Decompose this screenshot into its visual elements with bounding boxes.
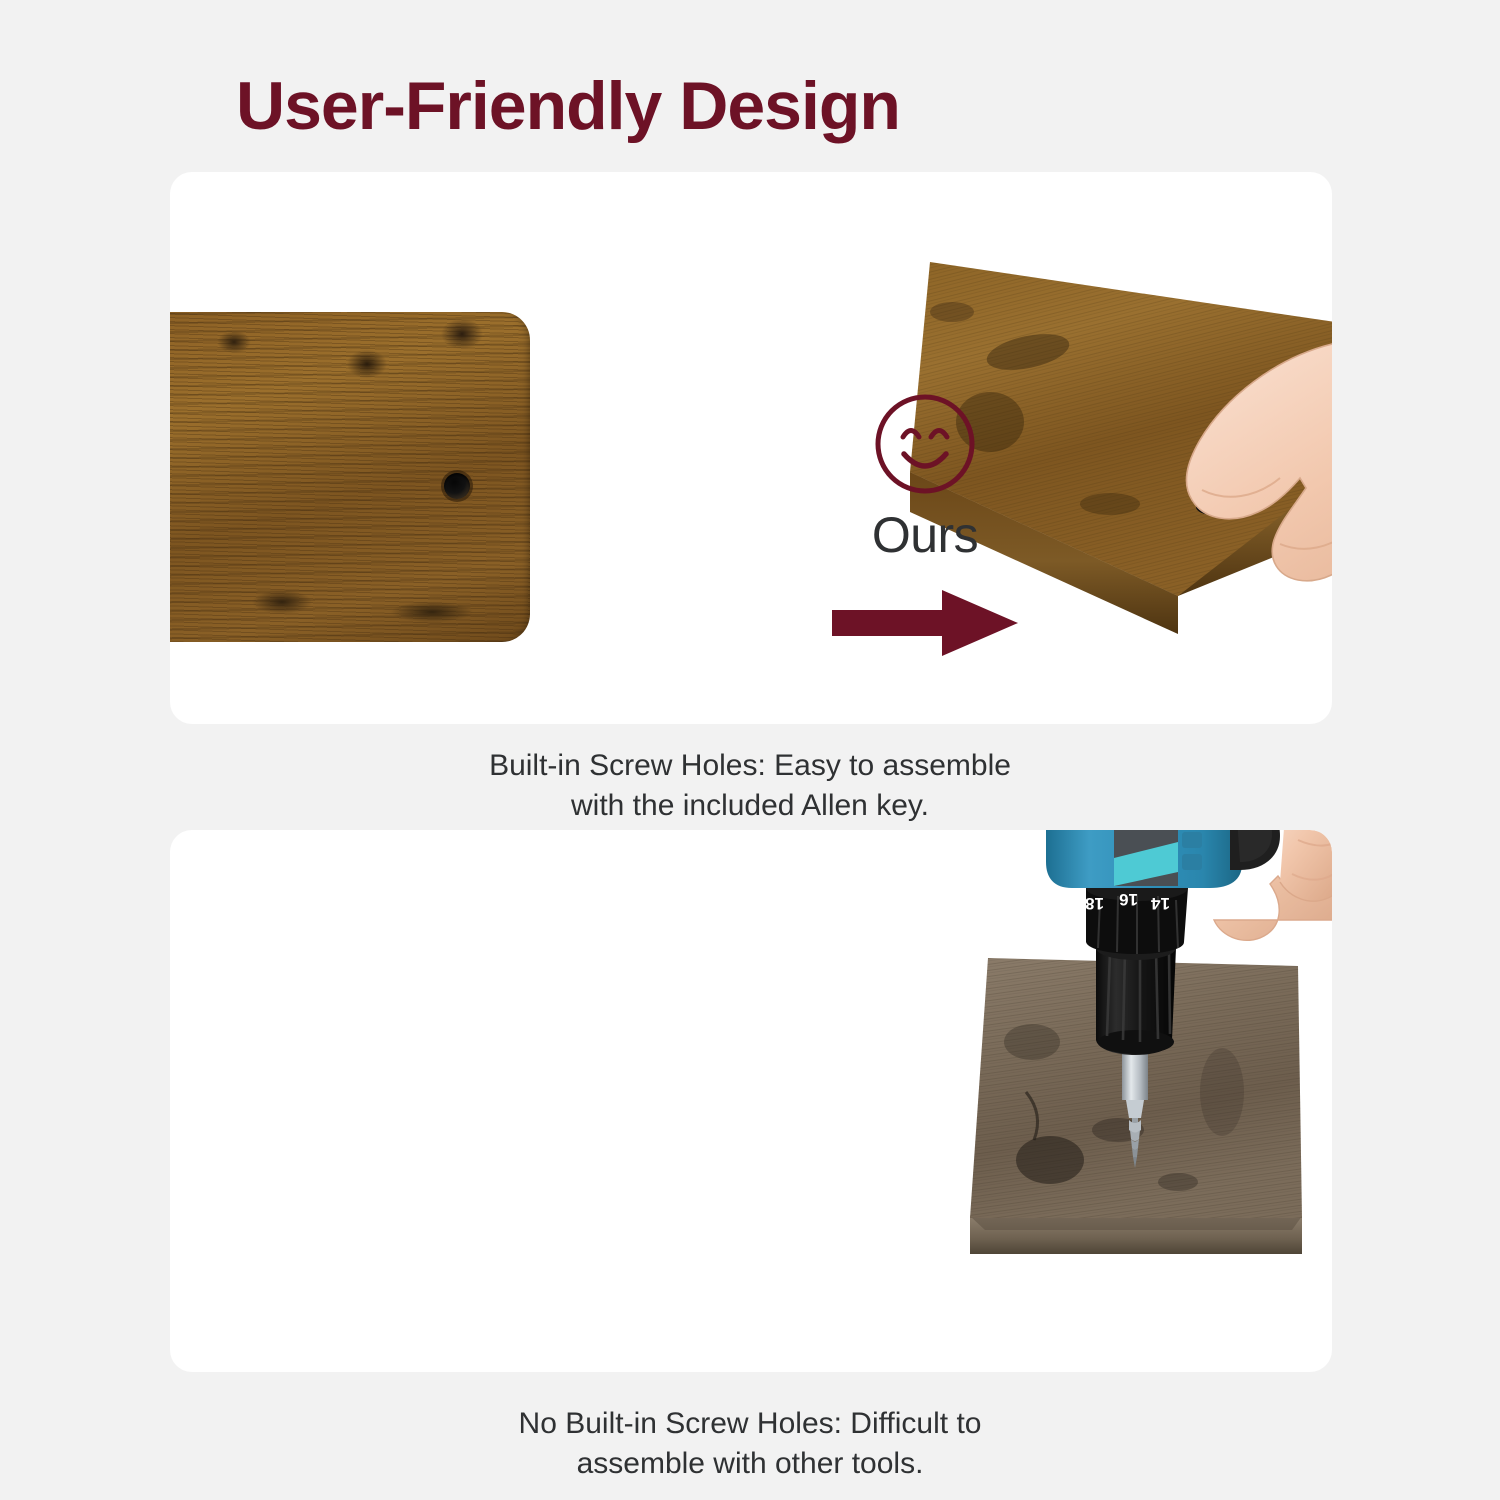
ours-comparison-marker: Ours xyxy=(795,390,1055,660)
caption-ours-line1: Built-in Screw Holes: Easy to assemble xyxy=(0,746,1500,786)
page-title: User-Friendly Design xyxy=(236,72,900,140)
ours-label: Ours xyxy=(795,510,1055,560)
hand-holding-power-drill-scene: 18 16 14 xyxy=(170,830,1332,1372)
caption-ours: Built-in Screw Holes: Easy to assemble w… xyxy=(0,746,1500,825)
caption-others-line2: assemble with other tools. xyxy=(0,1444,1500,1484)
comparison-card-others: 18 16 14 xyxy=(170,830,1332,1372)
caption-others: No Built-in Screw Holes: Difficult to as… xyxy=(0,1404,1500,1483)
caption-others-line1: No Built-in Screw Holes: Difficult to xyxy=(0,1404,1500,1444)
torque-number-14: 14 xyxy=(1151,894,1170,913)
hand-holding-allen-key-scene xyxy=(170,172,1332,724)
caption-ours-line2: with the included Allen key. xyxy=(0,786,1500,826)
torque-number-18: 18 xyxy=(1085,894,1104,913)
smiley-face-icon xyxy=(871,390,979,498)
torque-number-16: 16 xyxy=(1119,890,1138,909)
right-arrow-icon xyxy=(832,586,1018,660)
comparison-card-ours: Ours xyxy=(170,172,1332,724)
